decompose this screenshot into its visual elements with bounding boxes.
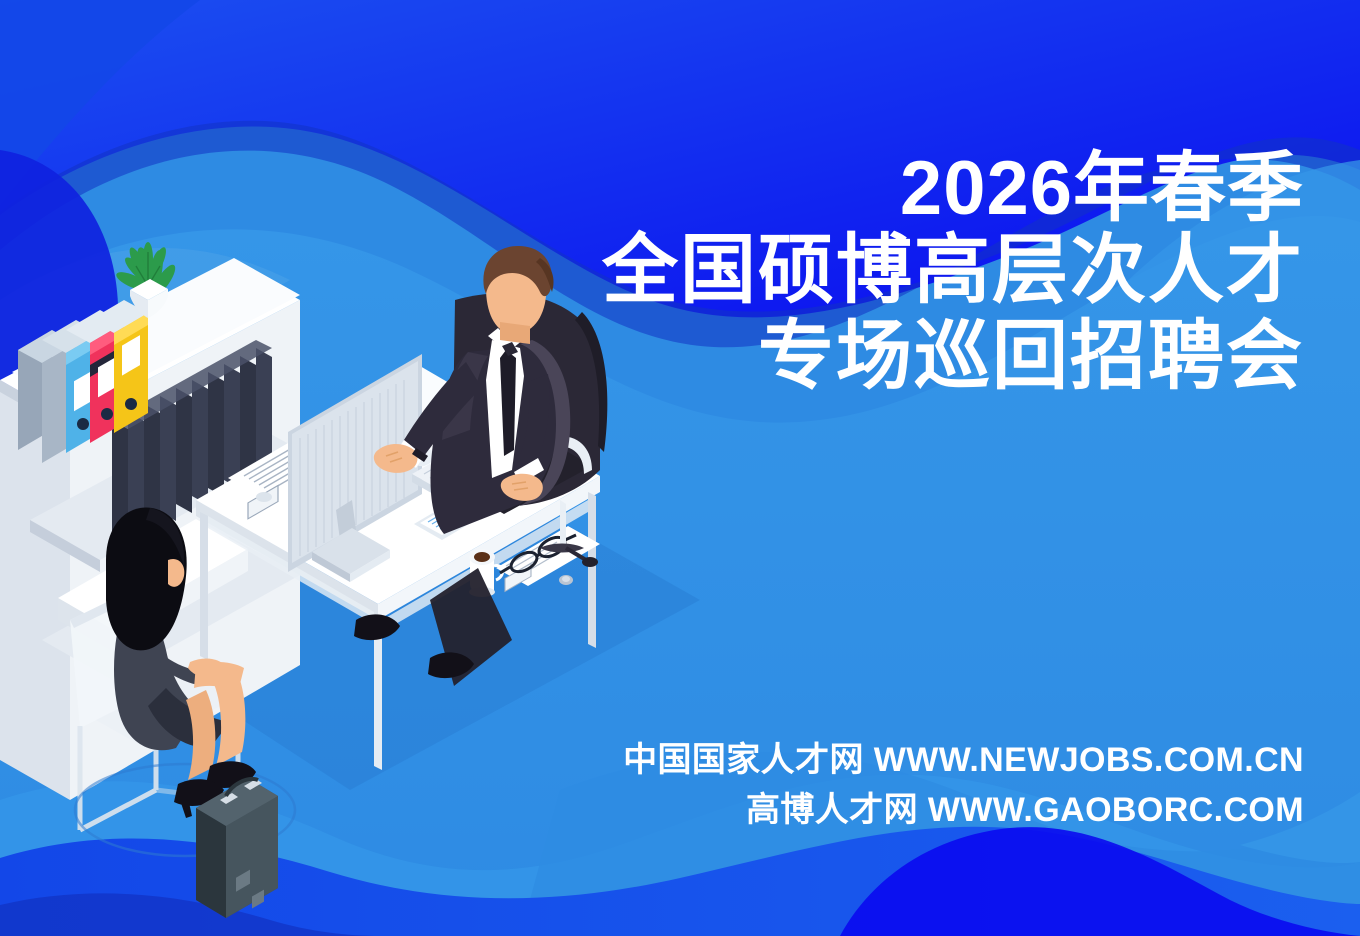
title-line-2: 全国硕博高层次人才 bbox=[584, 228, 1304, 315]
title-line-1: 2026年春季 bbox=[584, 150, 1304, 228]
poster-root: 2026年春季 全国硕博高层次人才 专场巡回招聘会 中国国家人才网 WWW.NE… bbox=[0, 0, 1360, 936]
footer-line-gaoborc: 高博人才网 WWW.GAOBORC.COM bbox=[544, 786, 1304, 836]
poster-footer: 中国国家人才网 WWW.NEWJOBS.COM.CN 高博人才网 WWW.GAO… bbox=[544, 736, 1304, 835]
title-line-3: 专场巡回招聘会 bbox=[584, 314, 1304, 401]
footer-line-newjobs: 中国国家人才网 WWW.NEWJOBS.COM.CN bbox=[544, 736, 1304, 786]
poster-title: 2026年春季 全国硕博高层次人才 专场巡回招聘会 bbox=[584, 150, 1304, 401]
